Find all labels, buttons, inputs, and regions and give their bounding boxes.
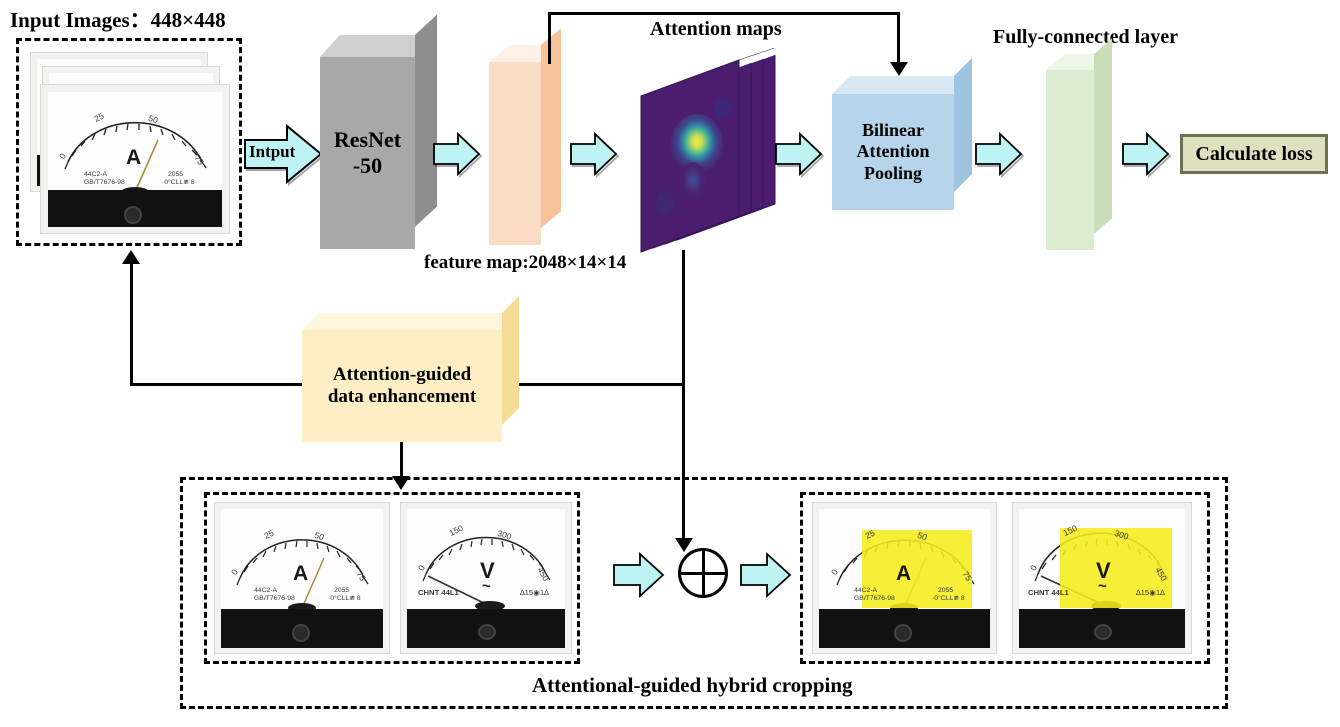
crop-right-voltmeter-ac-symbol: ~ [1098, 578, 1107, 595]
attention-branch-to-enhance [510, 383, 685, 386]
resnet-label-line2: -50 [353, 153, 382, 179]
enhancement-label-line2: data enhancement [328, 386, 476, 408]
feedback-line-vertical [130, 262, 133, 386]
bap-front-face: Bilinear Attention Pooling [832, 94, 954, 210]
bap-top-face [832, 76, 972, 94]
crop-right-ammeter-right-line1: 2055 [938, 586, 953, 594]
feature-map-label: feature map:2048×14×14 [424, 252, 626, 274]
arrow-featuremap-to-attention [570, 132, 618, 176]
ammeter-right-line2: ·0°CLL≇ 8 [162, 178, 195, 186]
crop-ammeter-right-line2: ·0°CLL≇ 8 [328, 594, 361, 602]
bap-side-face [954, 58, 972, 192]
crop-voltmeter-ac-symbol: ~ [482, 578, 491, 595]
resnet-front-face: ResNet -50 [320, 57, 415, 249]
arrow-resnet-to-featuremap [433, 132, 481, 176]
feature-map-front-face [489, 62, 541, 245]
crop-ammeter-right-line1: 2055 [334, 586, 349, 594]
bap-label-line1: Bilinear [862, 120, 924, 141]
bap-label-line3: Pooling [864, 163, 922, 184]
resnet-label-line1: ResNet [334, 127, 401, 153]
arrow-fc-to-loss [1122, 132, 1170, 176]
feature-map-block [489, 62, 541, 245]
fc-block [1046, 70, 1094, 250]
diagram-canvas: Input Images：448×448 [0, 0, 1340, 727]
crop-right-ammeter-model-line1: 44C2-A [854, 586, 877, 594]
crop-left-ammeter: A 0 25 50 75 44C2-A GB/T7676-98 2055 ·0°… [214, 502, 390, 654]
crop-right-voltmeter-right-line1: ∆15◉1∆ [1136, 588, 1165, 597]
crop-ammeter-model-line1: 44C2-A [254, 586, 277, 594]
enhancement-block: Attention-guided data enhancement [302, 330, 502, 442]
crop-right-ammeter-right-line2: ·0°CLL≇ 8 [932, 594, 965, 602]
ammeter-symbol: A [126, 146, 141, 170]
calculate-loss-label: Calculate loss [1195, 143, 1312, 166]
input-cyan-arrow: Intput [243, 122, 323, 186]
featuremap-to-bap-vertical-right [897, 12, 900, 64]
arrow-attention-to-bap [775, 132, 823, 176]
input-arrow-label: Intput [249, 142, 295, 162]
ammeter-model-line2: GB/T7676-98 [84, 178, 125, 186]
enhancement-side-face [502, 296, 519, 425]
merge-plus-vertical-bar [702, 551, 705, 595]
ammeter-model-line1: 44C2-A [84, 170, 107, 178]
input-meter-front-ammeter: A 0 25 50 75 44C2-A GB/T7676-98 2055 ·0°… [40, 84, 230, 234]
enhancement-label-line1: Attention-guided [333, 364, 471, 386]
crop-ammeter-symbol: A [293, 562, 308, 586]
merge-plus-operator [678, 548, 728, 598]
arrow-to-merge [613, 552, 665, 598]
resnet-side-face [415, 14, 437, 227]
featuremap-to-bap-vertical-left [548, 12, 551, 64]
ammeter-right-line1: 2055 [168, 170, 183, 178]
hybrid-cropping-caption: Attentional-guided hybrid cropping [532, 673, 853, 698]
enhancement-top-face [302, 313, 519, 330]
crop-right-voltmeter: V ~ 0 150 300 450 CHNT 44L1 ∆15◉1∆ [1012, 502, 1192, 654]
bap-top-arrowhead [890, 62, 908, 76]
enhancement-front-face: Attention-guided data enhancement [302, 330, 502, 442]
crop-right-ammeter-symbol: A [896, 562, 911, 586]
crop-right-voltmeter-model-line1: CHNT 44L1 [1028, 588, 1069, 597]
feedback-arrowhead [122, 250, 140, 264]
attention-maps-label: Attention maps [650, 18, 782, 41]
arrow-bap-to-fc [975, 132, 1023, 176]
calculate-loss-box[interactable]: Calculate loss [1180, 134, 1328, 174]
crop-voltmeter-right-line1: ∆15◉1∆ [520, 588, 549, 597]
crop-right-ammeter: A 0 25 50 75 44C2-A GB/T7676-98 2055 ·0°… [812, 502, 997, 654]
feature-map-side-face [541, 28, 561, 228]
crop-ammeter-model-line2: GB/T7676-98 [254, 594, 295, 602]
fc-side-face [1094, 38, 1112, 234]
bap-label-line2: Attention [857, 141, 930, 162]
fc-front-face [1046, 70, 1094, 250]
resnet-block: ResNet -50 [320, 57, 415, 249]
input-images-title: Input Images：448×448 [10, 4, 226, 34]
crop-right-ammeter-model-line2: GB/T7676-98 [854, 594, 895, 602]
arrow-from-merge [740, 552, 792, 598]
featuremap-to-bap-horizontal [548, 12, 900, 15]
bap-block: Bilinear Attention Pooling [832, 94, 954, 210]
crop-voltmeter-model-line1: CHNT 44L1 [418, 588, 459, 597]
fully-connected-label: Fully-connected layer [993, 26, 1178, 49]
crop-left-voltmeter: V ~ 0 150 300 450 CHNT 44L1 ∆15◉1∆ [400, 502, 572, 654]
